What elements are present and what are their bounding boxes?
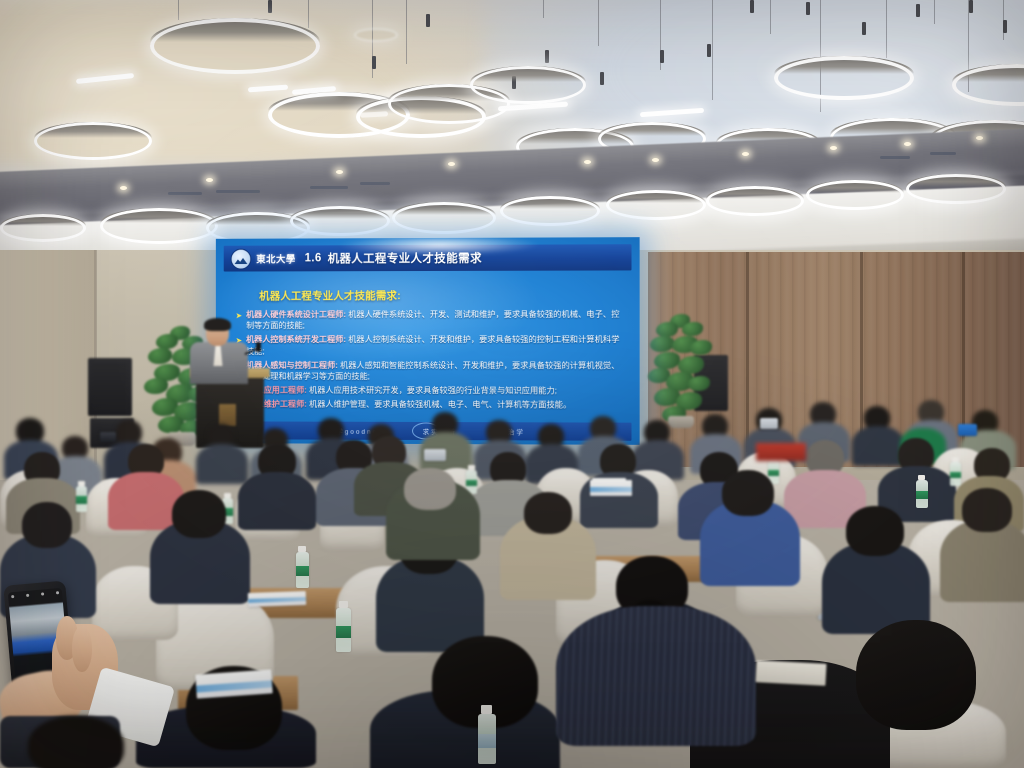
slide-bullet-1: ➤ 机器人硬件系统设计工程师: 机器人硬件系统设计、开发、测试和维护，要求具备较… bbox=[236, 309, 622, 332]
slide-body: 机器人工程专业人才技能需求: ➤ 机器人硬件系统设计工程师: 机器人硬件系统设计… bbox=[224, 277, 632, 418]
projection-screen: 東北大學 1.6 机器人工程专业人才技能需求 机器人工程专业人才技能需求: ➤ … bbox=[216, 237, 640, 445]
pa-speaker-left bbox=[88, 358, 132, 416]
water-bottle bbox=[296, 552, 309, 588]
middle-finger bbox=[72, 626, 92, 672]
handout bbox=[248, 591, 306, 607]
camera-ui-top-row bbox=[11, 590, 59, 598]
presenter bbox=[186, 320, 252, 382]
university-name-cn: 東北大學 bbox=[256, 251, 296, 265]
slide-bullet-5: 机器人维护工程师: 机器人维护管理、要求具备较强机械、电子、电气、计算机等方面技… bbox=[236, 399, 622, 411]
bullet-arrow-icon: ➤ bbox=[236, 311, 243, 320]
podium-emblem bbox=[219, 404, 236, 426]
raised-phone-4 bbox=[100, 432, 116, 442]
foreground-head-bottom-left bbox=[28, 716, 124, 768]
presenter-hair bbox=[204, 318, 231, 331]
slide-subtitle: 机器人工程专业人才技能需求: bbox=[259, 288, 621, 304]
attendee-head bbox=[172, 490, 226, 538]
slide-section-number: 1.6 bbox=[305, 252, 322, 264]
water-bottle bbox=[950, 462, 961, 486]
attendee-head bbox=[524, 492, 572, 534]
slide-bullet-3: ➤ 机器人感知与控制工程师: 机器人感知和智能控制系统设计、开发和维护，要求具备… bbox=[236, 360, 622, 383]
attendee-head bbox=[722, 470, 774, 516]
attendee-head bbox=[962, 488, 1012, 532]
slide-bullet-4: 机器人应用工程师: 机器人应用技术研究开发，要求具备较强的行业背景与知识应用能力… bbox=[236, 385, 622, 397]
water-bottle bbox=[336, 608, 351, 652]
attendee-torso bbox=[940, 520, 1024, 602]
raised-phone-3 bbox=[958, 424, 977, 436]
water-bottle bbox=[76, 486, 87, 512]
attendee-pinstripe-shirt bbox=[556, 606, 756, 746]
bullet-lead-1: 机器人硬件系统设计工程师: bbox=[246, 310, 346, 319]
bullet-lead-2: 机器人控制系统开发工程师: bbox=[246, 335, 346, 344]
wood-panel-seam-3 bbox=[962, 252, 965, 452]
foreground-attendee-head bbox=[856, 620, 976, 730]
handout bbox=[755, 660, 826, 686]
attendee-torso bbox=[238, 472, 316, 530]
potted-plant-right bbox=[648, 314, 714, 426]
microphone-head bbox=[256, 342, 261, 352]
raised-phone-1 bbox=[424, 449, 446, 461]
university-seal-icon bbox=[231, 248, 252, 269]
attendee-head-grey-hair bbox=[404, 468, 456, 510]
bullet-text-4: 机器人应用技术研究开发，要求具备较强的行业背景与知识应用能力; bbox=[307, 386, 557, 395]
attendee-head bbox=[846, 506, 904, 556]
bullet-text-5: 机器人维护管理、要求具备较强机械、电子、电气、计算机等方面技能。 bbox=[307, 400, 571, 410]
water-bottle bbox=[916, 480, 928, 508]
attendee-head bbox=[22, 502, 72, 548]
red-banner bbox=[756, 443, 806, 461]
wood-panel-seam-2 bbox=[860, 252, 863, 452]
water-bottle bbox=[478, 714, 496, 764]
handout bbox=[590, 480, 632, 496]
raised-phone-2 bbox=[760, 418, 778, 429]
slide-bullet-2: ➤ 机器人控制系统开发工程师: 机器人控制系统设计、开发和维护，要求具备较强的控… bbox=[236, 334, 622, 357]
conference-photo: 東北大學 1.6 机器人工程专业人才技能需求 机器人工程专业人才技能需求: ➤ … bbox=[0, 0, 1024, 768]
wood-panel-seam-1 bbox=[746, 252, 749, 452]
